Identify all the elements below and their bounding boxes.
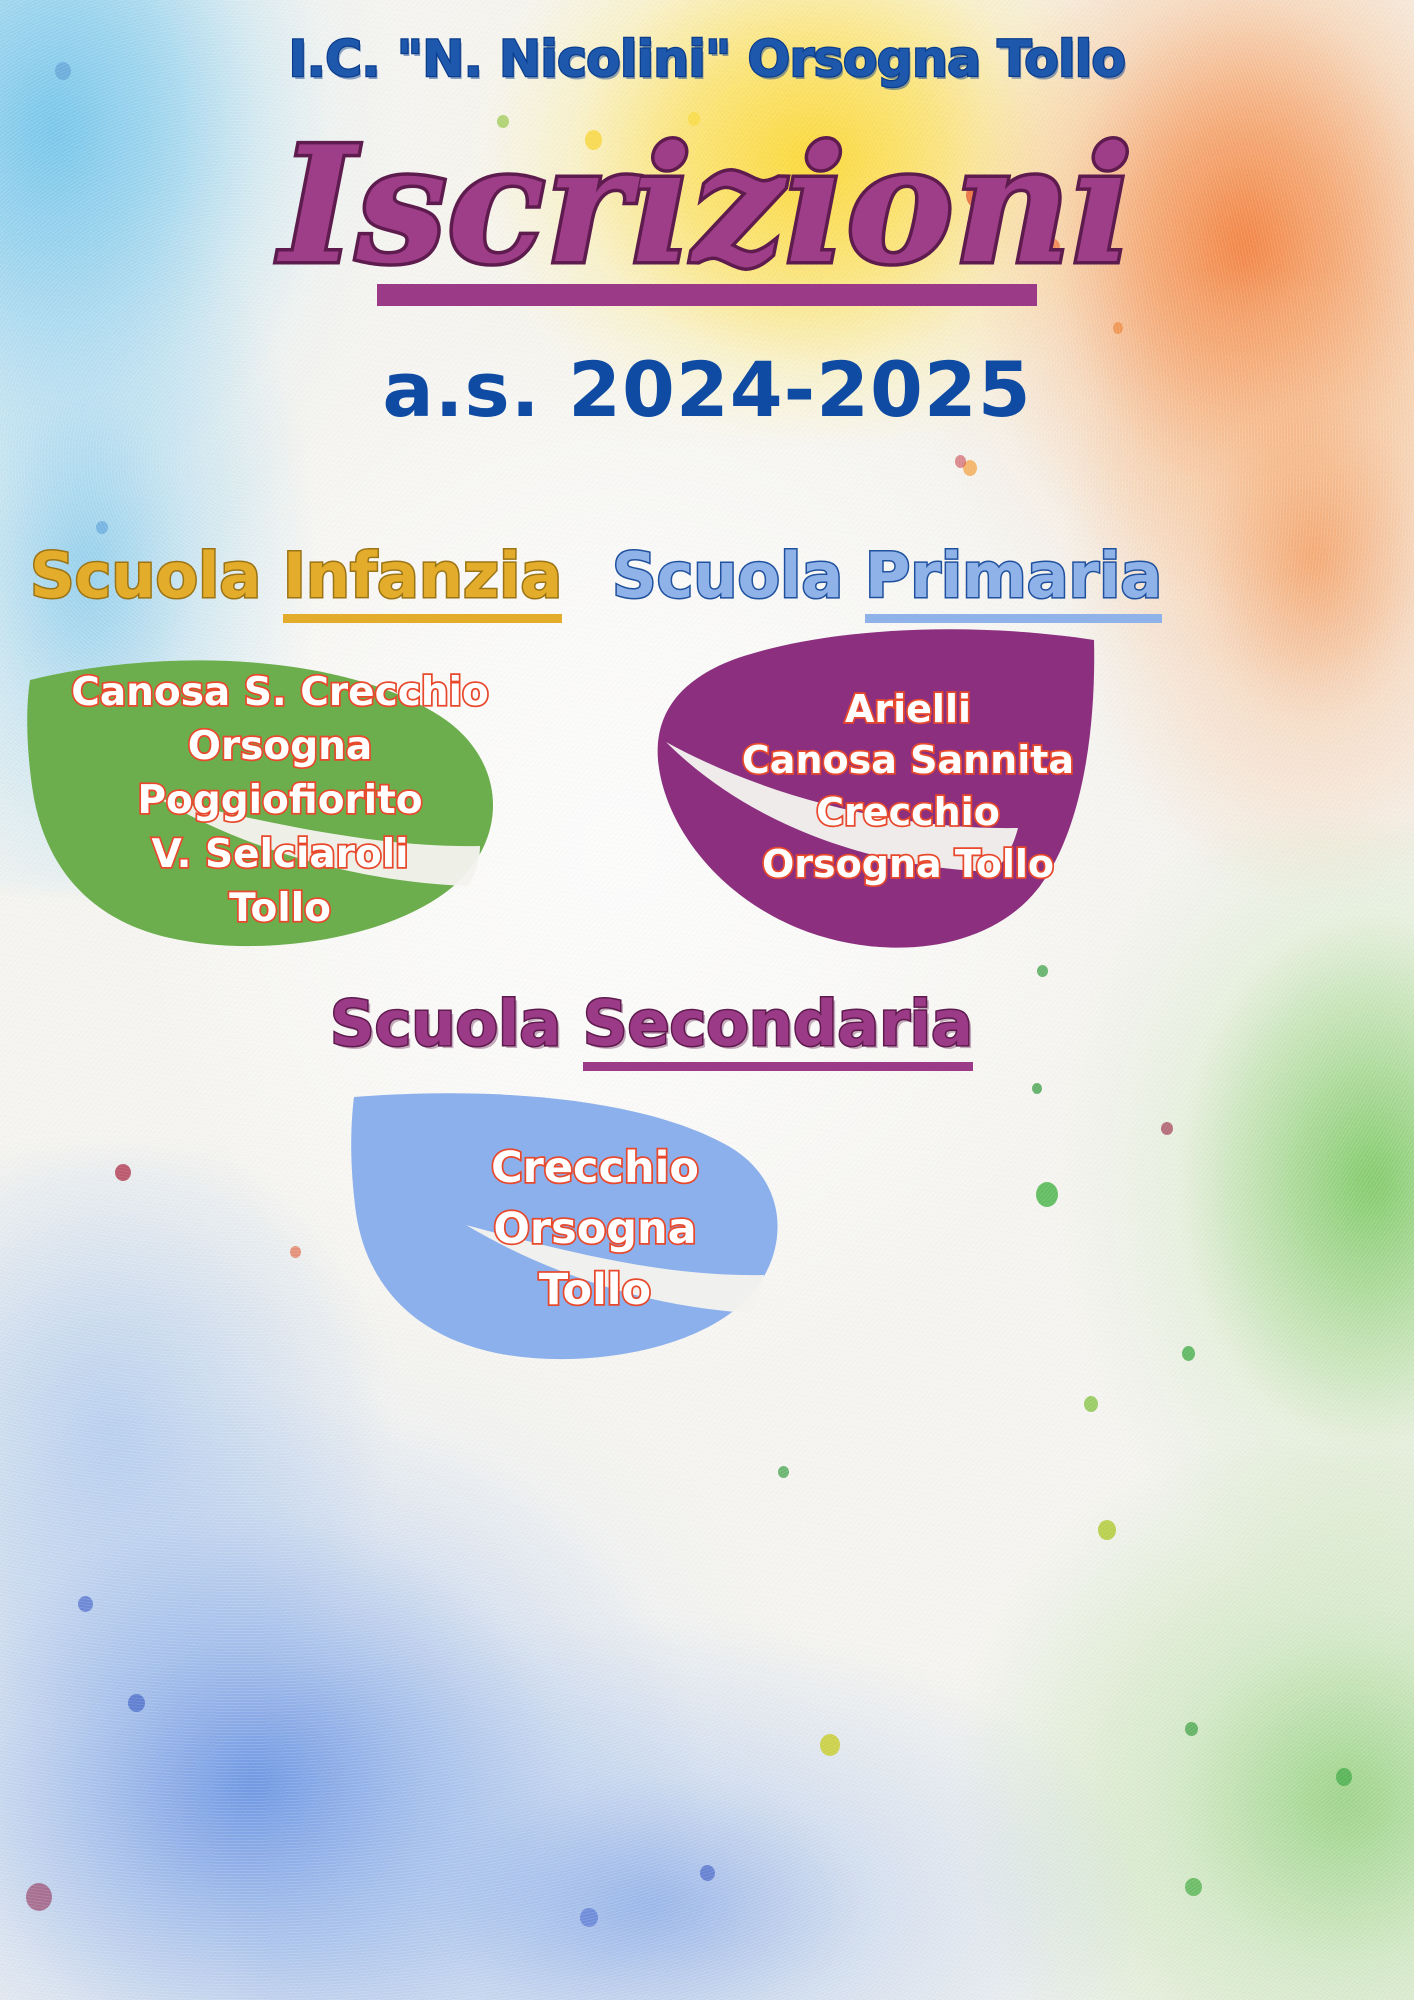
heading-secondaria-underlined: Secondaria bbox=[583, 987, 973, 1071]
leaf-body-green bbox=[27, 660, 493, 946]
main-title-block: Iscrizioni bbox=[0, 125, 1414, 285]
institute-title: I.C. "N. Nicolini" Orsogna Tollo bbox=[0, 30, 1414, 88]
heading-infanzia-prefix: Scuola bbox=[30, 539, 283, 612]
poster-content: I.C. "N. Nicolini" Orsogna Tollo Iscrizi… bbox=[0, 0, 1414, 2000]
page-title: Iscrizioni bbox=[281, 125, 1134, 285]
heading-scuola-infanzia: Scuola Infanzia bbox=[30, 545, 562, 607]
heading-secondaria-prefix: Scuola bbox=[330, 987, 583, 1060]
heading-scuola-secondaria: Scuola Secondaria bbox=[330, 993, 973, 1055]
heading-primaria-underlined: Primaria bbox=[865, 539, 1162, 623]
leaf-shape-infanzia: Canosa S. Crecchio Orsogna Poggiofiorito… bbox=[10, 638, 510, 958]
poster-canvas: I.C. "N. Nicolini" Orsogna Tollo Iscrizi… bbox=[0, 0, 1414, 2000]
main-title-underline-bar bbox=[377, 284, 1037, 306]
heading-primaria-prefix: Scuola bbox=[612, 539, 865, 612]
heading-scuola-primaria: Scuola Primaria bbox=[612, 545, 1162, 607]
leaf-shape-primaria: Arielli Canosa Sannita Crecchio Orsogna … bbox=[648, 620, 1108, 950]
school-year: a.s. 2024-2025 bbox=[0, 345, 1414, 434]
leaf-body-blue bbox=[351, 1093, 777, 1359]
heading-infanzia-underlined: Infanzia bbox=[283, 539, 562, 623]
leaf-shape-secondaria: Crecchio Orsogna Tollo bbox=[340, 1085, 790, 1370]
